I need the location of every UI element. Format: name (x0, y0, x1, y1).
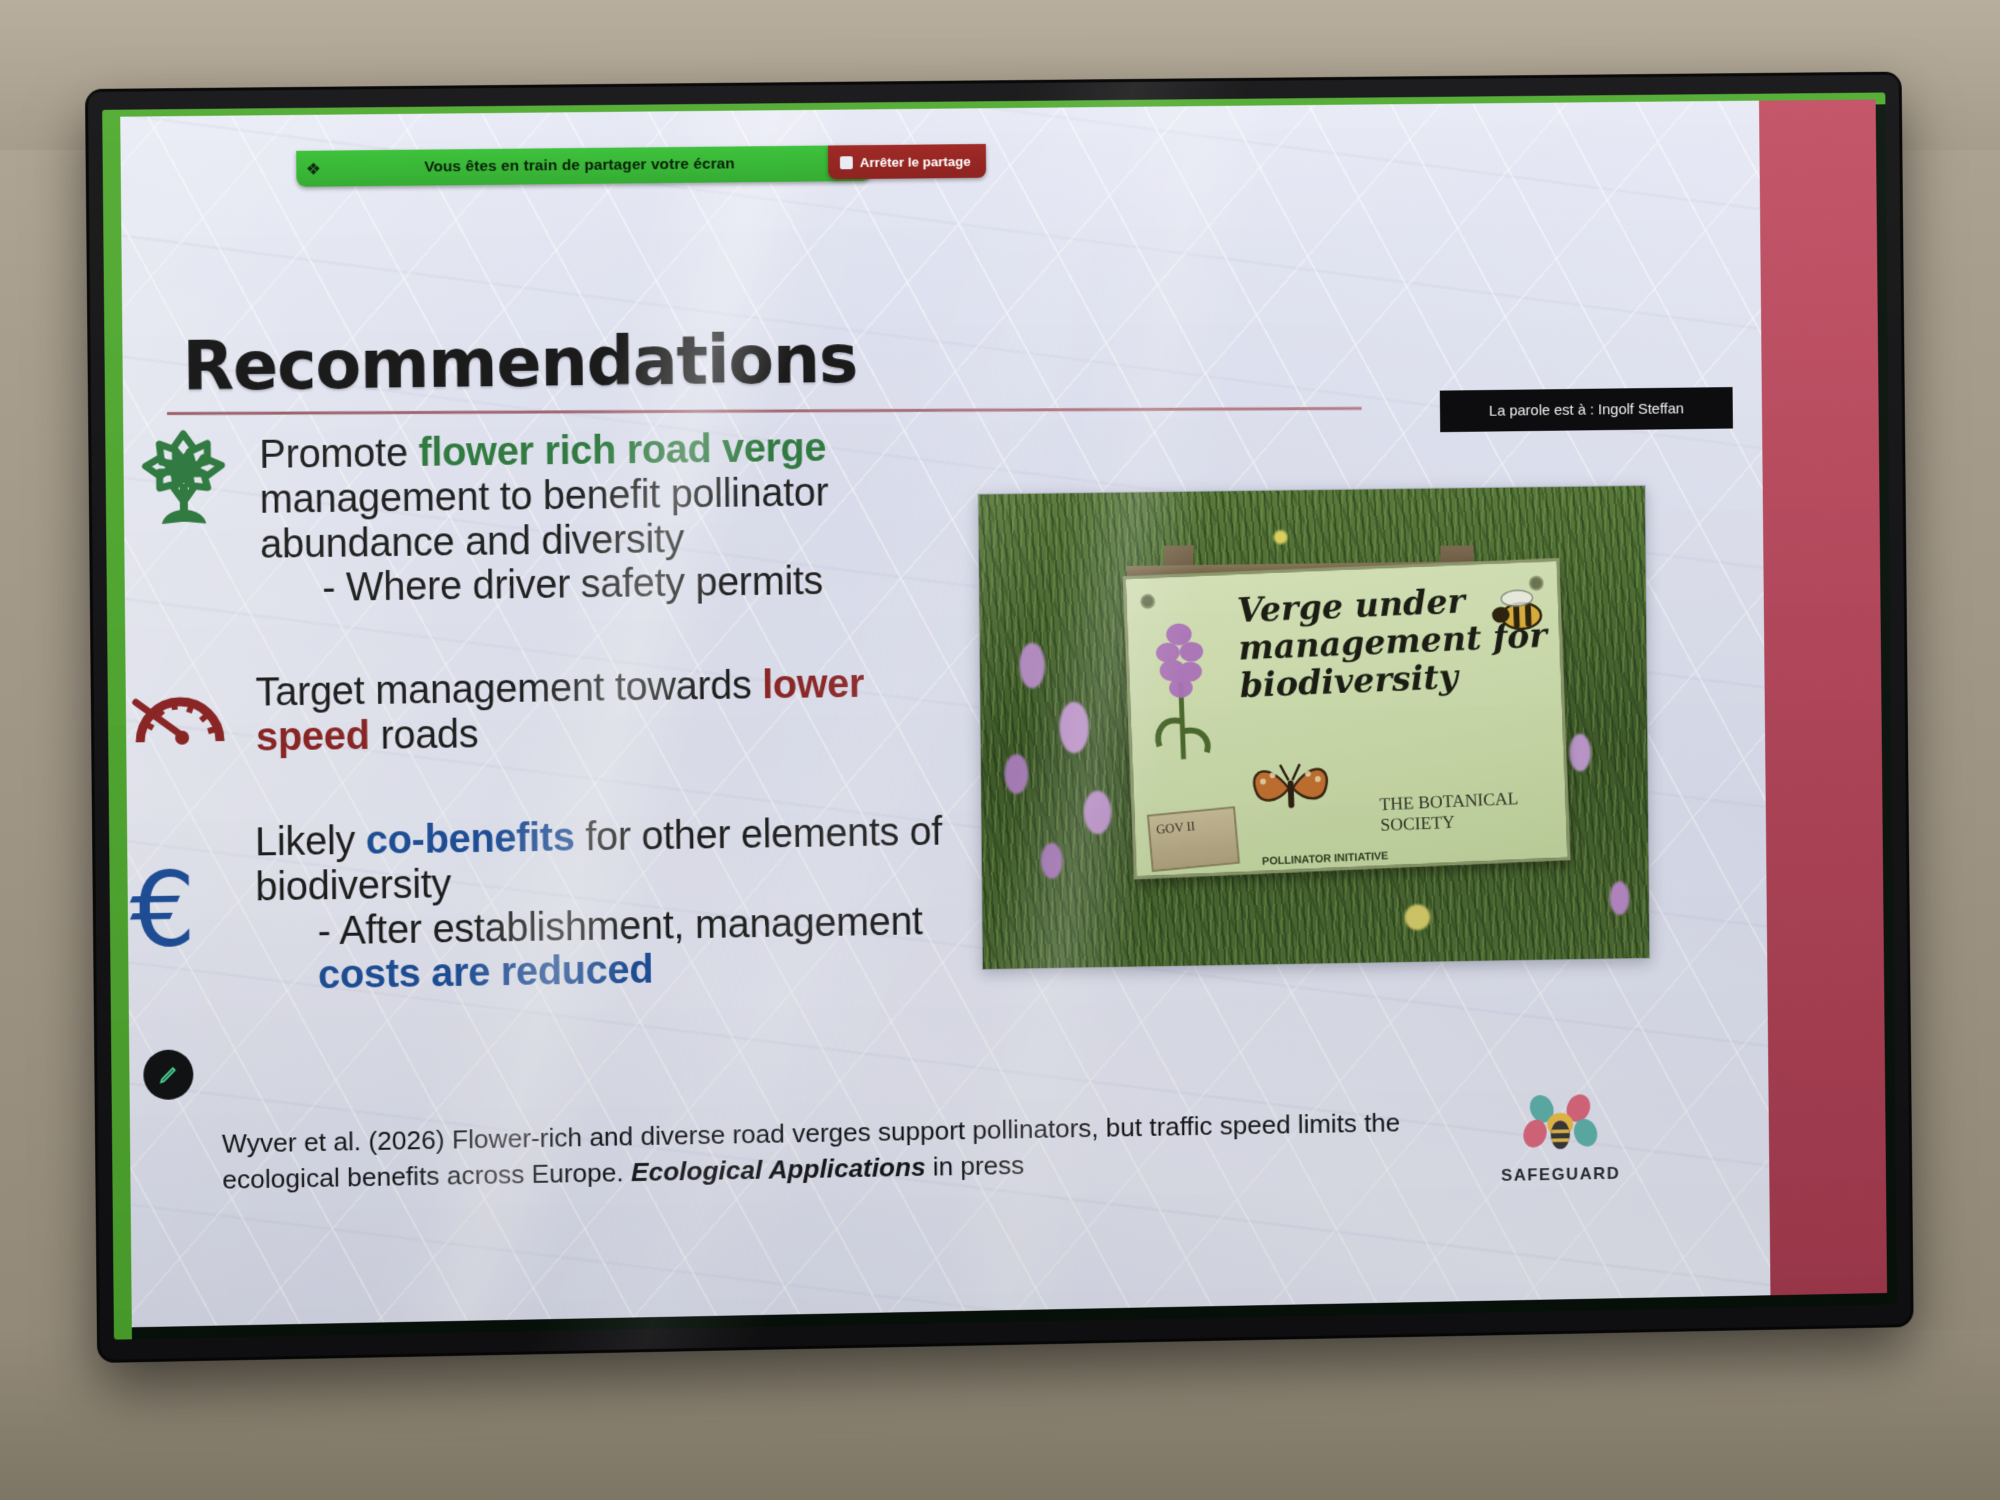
stop-square-icon (840, 156, 853, 169)
active-speaker-label: La parole est à : Ingolf Steffan (1489, 400, 1684, 419)
bullet-1-tail: management to benefit pollinator abundan… (259, 470, 828, 566)
tv-panel: Recommendations (102, 92, 1897, 1339)
television-display: Recommendations (88, 75, 1911, 1360)
orchid-illustration (1141, 611, 1221, 763)
wildflower (1019, 643, 1045, 689)
stop-share-button[interactable]: Arrêter le partage (828, 144, 986, 179)
room-scene: Recommendations (0, 0, 2000, 1500)
bullet-1-sub: - Where driver safety permits (322, 558, 935, 611)
bullet-1: Promote flower rich road verge managemen… (259, 425, 935, 612)
wildflower (1569, 734, 1591, 772)
safeguard-logo: SAFEGUARD (1495, 1090, 1625, 1191)
butterfly-illustration (1242, 749, 1339, 824)
bullet-3: Likely co-benefits for other elements of… (255, 810, 951, 1000)
plaque-text: GOV II (1155, 818, 1195, 838)
pollinator-initiative-label: POLLINATOR INITIATIVE (1262, 852, 1389, 869)
bullet-1-lead: Promote (259, 431, 419, 477)
speedometer-icon (130, 671, 231, 746)
wildflower (1059, 701, 1089, 753)
presentation-slide: Recommendations (120, 101, 1776, 1328)
presenter-side-panel (1759, 99, 1887, 1295)
citation-footer: Wyver et al. (2026) Flower-rich and dive… (222, 1105, 1448, 1198)
bullet-2: Target management towards lower speed ro… (255, 661, 940, 760)
wildflower (1084, 790, 1112, 834)
bullet-2-lead: Target management towards (255, 663, 762, 714)
citation-part-2: in press (925, 1150, 1024, 1182)
title-underline (167, 407, 1362, 415)
citation-journal: Ecological Applications (631, 1152, 926, 1187)
bullet-3-lead: Likely (255, 819, 366, 865)
stop-share-label: Arrêter le partage (860, 154, 971, 170)
safeguard-wordmark: SAFEGUARD (1496, 1164, 1625, 1186)
pen-icon (157, 1064, 179, 1086)
bullet-1-highlight: flower rich road verge (418, 426, 826, 475)
bullet-3-sub: - After establishment, management costs … (317, 899, 950, 999)
wildflower (1610, 881, 1630, 915)
share-notice-label: Vous êtes en train de partager votre écr… (330, 154, 828, 177)
bullet-2-tail: roads (369, 712, 478, 757)
wildflower (1274, 530, 1288, 544)
shared-screen: Recommendations (120, 99, 1887, 1327)
screen-share-banner: ❖ Vous êtes en train de partager votre é… (296, 145, 872, 187)
bolt-icon: ❖ (296, 160, 330, 177)
sign-hole (1140, 594, 1155, 609)
page-title: Recommendations (182, 320, 857, 406)
active-speaker-banner: La parole est à : Ingolf Steffan (1440, 387, 1733, 432)
bee-illustration (1487, 585, 1549, 635)
bullet-3-highlight: co-benefits (366, 816, 575, 863)
bullet-3-sub-lead: - After establishment, management (317, 899, 922, 953)
wildflower (1004, 754, 1028, 794)
small-plaque: GOV II (1147, 806, 1240, 872)
road-verge-sign-photo: Verge under management for biodiversity (977, 485, 1650, 970)
verge-sign: Verge under management for biodiversity (1123, 558, 1571, 879)
euro-icon: € (129, 857, 226, 964)
flower-icon (137, 425, 230, 524)
botanical-society-label: THE BOTANICAL SOCIETY (1379, 786, 1566, 836)
wildflower (1041, 843, 1063, 879)
annotate-pen-button[interactable] (143, 1049, 193, 1100)
bullet-3-sub-highlight: costs are reduced (318, 948, 653, 997)
